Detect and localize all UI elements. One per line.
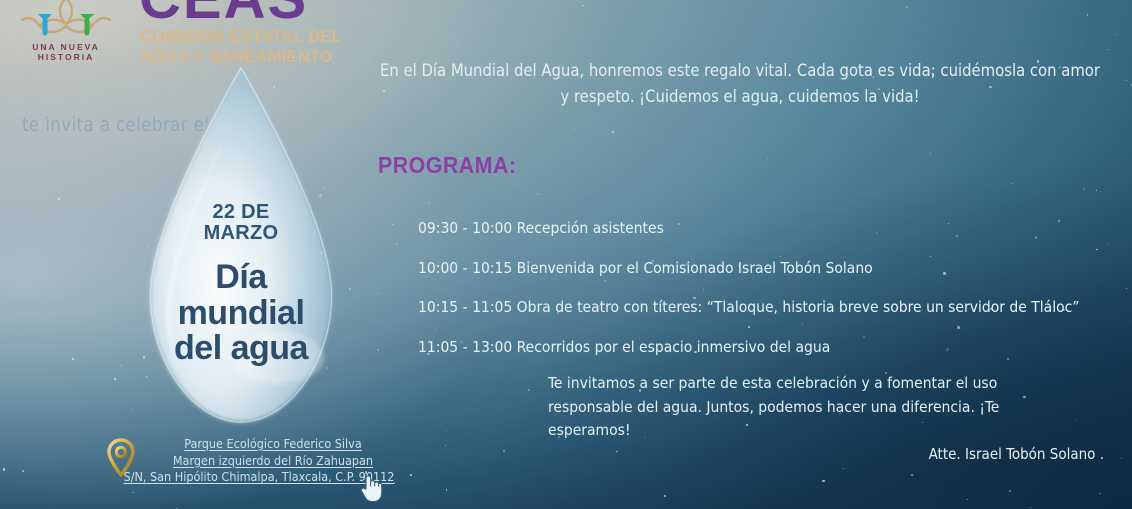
- event-date-line1: 22 DE: [128, 202, 354, 223]
- closing-paragraph: Te invitamos a ser parte de esta celebra…: [548, 372, 1068, 443]
- signature: Atte. Israel Tobón Solano .: [548, 445, 1104, 463]
- program-item: 11:05 - 13:00 Recorridos por el espacio …: [418, 338, 1132, 357]
- invitation-poster: CEAS COMISIÓN ESTATAL DEL AGUA Y SANEAMI…: [0, 0, 1132, 509]
- program-item: 10:15 - 11:05 Obra de teatro con títeres…: [418, 298, 1132, 317]
- address-line-2[interactable]: Margen izquierdo del Río Zahuapan: [140, 453, 406, 470]
- event-title-line3: del agua: [128, 331, 354, 367]
- event-title-line2: mundial: [128, 296, 354, 332]
- ceas-acronym: CEAS: [139, 0, 308, 28]
- logo-tagline: UNA NUEVA HISTORIA: [6, 42, 126, 62]
- program-list: 09:30 - 10:00 Recepción asistentes10:00 …: [378, 219, 1132, 377]
- event-title: Día mundial del agua: [128, 260, 354, 367]
- program-item: 09:30 - 10:00 Recepción asistentes: [418, 219, 1132, 238]
- event-title-line1: Día: [128, 260, 354, 296]
- address-line-1[interactable]: Parque Ecológico Federico Silva: [140, 436, 406, 453]
- tlaxcala-logo: UNA NUEVA HISTORIA: [6, 0, 128, 64]
- program-heading: PROGRAMA:: [378, 152, 516, 179]
- ceas-subtitle-line1: COMISIÓN ESTATAL DEL: [140, 27, 380, 47]
- water-drop-graphic: 22 DE MARZO Día mundial del agua: [128, 62, 354, 428]
- program-item: 10:00 - 10:15 Bienvenida por el Comision…: [418, 259, 1132, 278]
- hand-pointer-cursor: [358, 472, 384, 504]
- event-date-line2: MARZO: [128, 223, 354, 244]
- event-date: 22 DE MARZO: [128, 202, 354, 244]
- intro-paragraph: En el Día Mundial del Agua, honremos est…: [378, 58, 1102, 109]
- water-drop-text: 22 DE MARZO Día mundial del agua: [128, 62, 354, 428]
- floral-emblem-icon: [14, 0, 118, 42]
